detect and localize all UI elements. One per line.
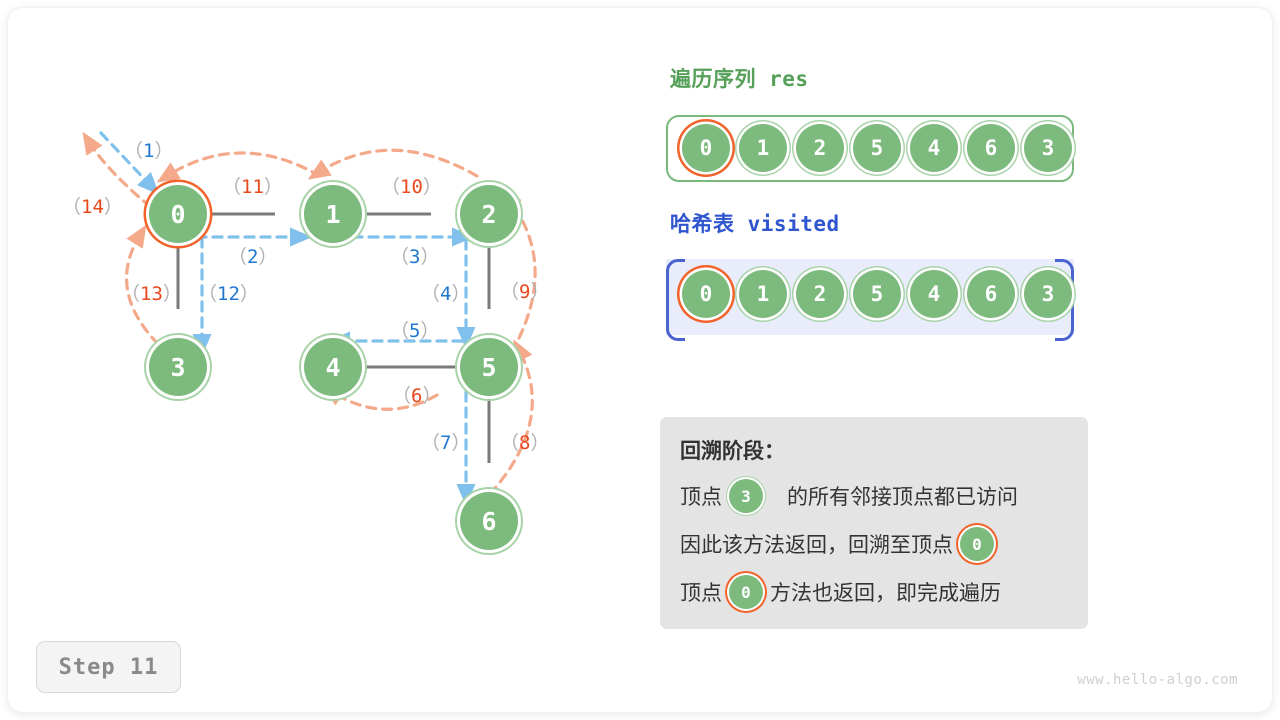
visited-cell-0: 0 (682, 270, 730, 318)
edge-label-6: （6） (392, 381, 441, 408)
visited-cell-2: 2 (796, 270, 844, 318)
inline-node-0-b: 0 (729, 575, 763, 609)
visited-cell-4: 4 (910, 270, 958, 318)
step-badge: Step 11 (36, 641, 181, 693)
explanation-line-1: 顶点 3 的所有邻接顶点都已访问 (680, 479, 1018, 513)
edge-label-10: （10） (381, 172, 442, 199)
edge-label-2: （2） (228, 242, 277, 269)
res-cell-4: 4 (910, 124, 958, 172)
graph-vertex-3: 3 (149, 338, 207, 396)
graph-vertex-6: 6 (460, 492, 518, 550)
inline-node-0-a: 0 (960, 527, 994, 561)
graph-vertex-5: 5 (460, 338, 518, 396)
res-cell-0: 0 (682, 124, 730, 172)
inline-node-3: 3 (729, 479, 763, 513)
visited-cell-1: 1 (739, 270, 787, 318)
graph-vertex-1: 1 (304, 185, 362, 243)
edge-label-14: （14） (62, 192, 123, 219)
visited-cell-5: 6 (967, 270, 1015, 318)
graph-diagram: 0123456 （1）（2）（3）（4）（5）（6）（7）（8）（9）（10）（… (0, 0, 640, 720)
explanation-line-1-suffix: 的所有邻接顶点都已访问 (787, 481, 1018, 511)
edge-label-7: （7） (421, 428, 470, 455)
edge-label-4: （4） (421, 279, 470, 306)
edge-label-9: （9） (500, 277, 549, 304)
graph-vertex-0: 0 (149, 185, 207, 243)
edge-label-13: （13） (121, 279, 182, 306)
explanation-line-3-suffix: 方法也返回，即完成遍历 (770, 577, 1001, 607)
res-cell-1: 1 (739, 124, 787, 172)
edge-label-8: （8） (500, 428, 549, 455)
edge-label-11: （11） (222, 172, 283, 199)
res-array-cells: 0125463 (682, 124, 1072, 172)
edge-label-5: （5） (390, 316, 439, 343)
explanation-line-2-text: 因此该方法返回，回溯至顶点 (680, 529, 953, 559)
illustration-stage: 0123456 （1）（2）（3）（4）（5）（6）（7）（8）（9）（10）（… (0, 0, 1280, 720)
visited-cell-6: 3 (1024, 270, 1072, 318)
edge-label-12: （12） (198, 279, 259, 306)
graph-vertex-4: 4 (304, 338, 362, 396)
res-cell-5: 6 (967, 124, 1015, 172)
explanation-line-3: 顶点 0 方法也返回，即完成遍历 (680, 575, 1001, 609)
graph-vertex-2: 2 (460, 185, 518, 243)
explanation-line-1-prefix: 顶点 (680, 481, 722, 511)
explanation-card: 回溯阶段： 顶点 3 的所有邻接顶点都已访问 因此该方法返回，回溯至顶点 0 顶… (660, 417, 1088, 629)
explanation-line-2: 因此该方法返回，回溯至顶点 0 (680, 527, 994, 561)
visited-panel-title: 哈希表 visited (670, 208, 840, 238)
edge-label-1: （1） (124, 136, 173, 163)
res-panel-title: 遍历序列 res (670, 63, 809, 93)
res-cell-2: 2 (796, 124, 844, 172)
visited-hashset-cells: 0125463 (682, 270, 1072, 318)
res-cell-3: 5 (853, 124, 901, 172)
explanation-heading: 回溯阶段： (680, 435, 785, 465)
explanation-line-3-prefix: 顶点 (680, 577, 722, 607)
edge-label-3: （3） (390, 242, 439, 269)
visited-cell-3: 5 (853, 270, 901, 318)
site-watermark: www.hello-algo.com (1077, 672, 1238, 688)
res-cell-6: 3 (1024, 124, 1072, 172)
